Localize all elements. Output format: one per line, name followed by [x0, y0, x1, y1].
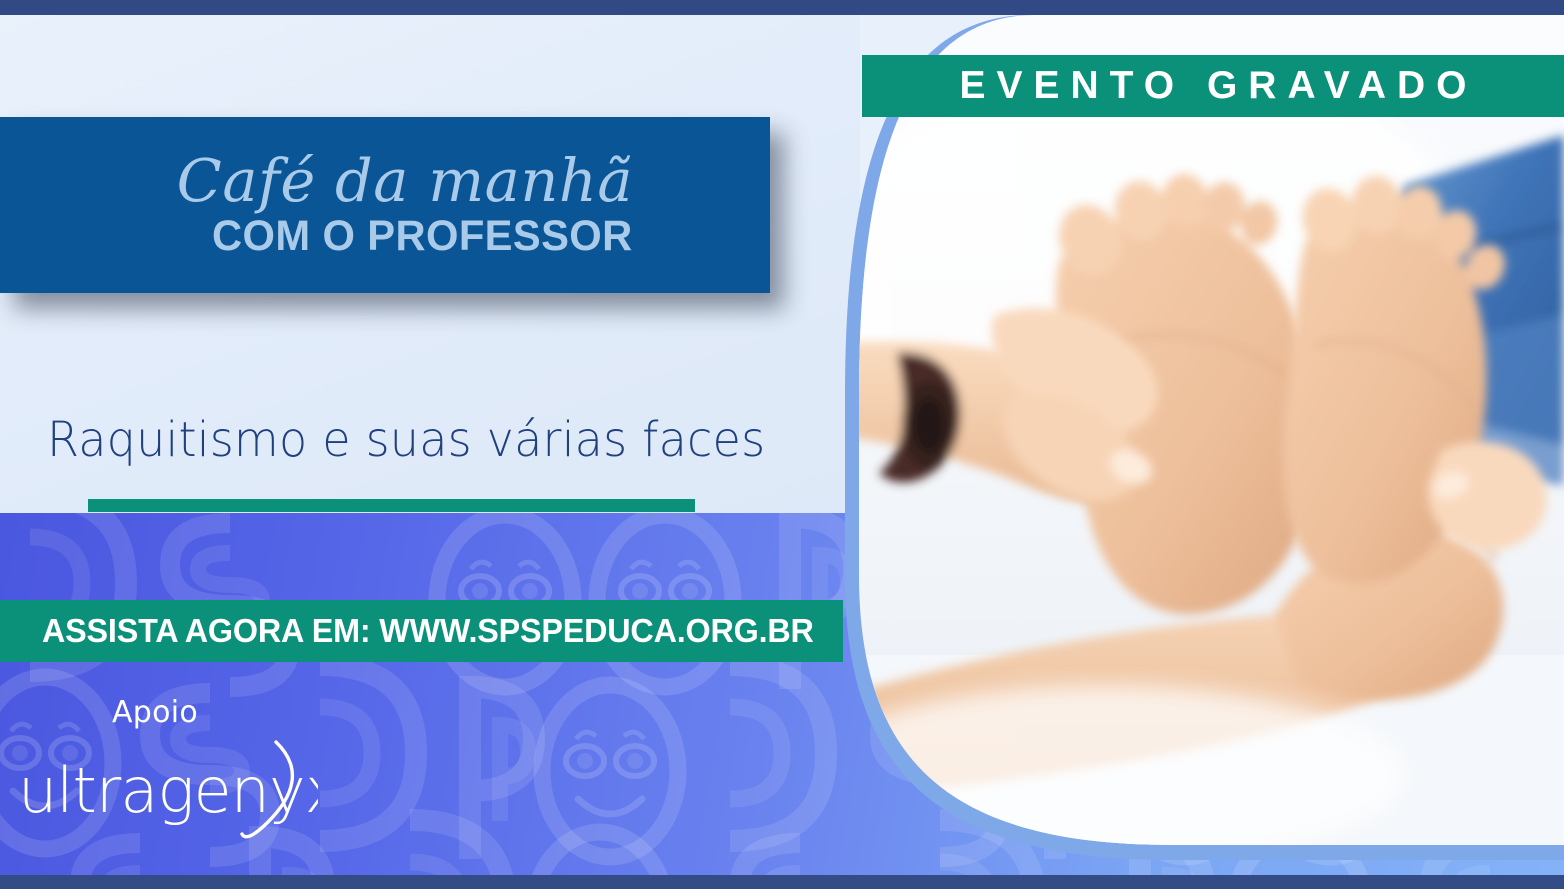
- watch-now-cta[interactable]: ASSISTA AGORA EM: WWW.SPSPEDUCA.ORG.BR: [0, 600, 843, 662]
- lecture-title-underline: [88, 499, 695, 512]
- sponsor-label: Apoio: [0, 695, 310, 730]
- lecture-title: Raquitismo e suas várias faces: [47, 412, 765, 468]
- sponsor-block: Apoio ultragenyx: [0, 695, 430, 844]
- series-bold-title: COM O PROFESSOR: [212, 214, 633, 259]
- bottom-navy-rail: [0, 875, 1564, 889]
- recorded-event-badge: EVENTO GRAVADO: [862, 55, 1564, 117]
- top-navy-rail: [0, 0, 1564, 15]
- series-title-card: Café da manhã COM O PROFESSOR: [0, 117, 770, 293]
- ultragenyx-logo-icon: ultragenyx: [18, 734, 318, 844]
- photo-arc-frame-icon: [845, 15, 1564, 860]
- event-promo-banner: EVENTO GRAVADO Café da manhã COM O PROFE…: [0, 0, 1564, 889]
- event-photo: [845, 15, 1564, 860]
- watch-now-label: ASSISTA AGORA EM: WWW.SPSPEDUCA.ORG.BR: [42, 612, 814, 650]
- series-script-title: Café da manhã: [177, 151, 633, 211]
- recorded-event-label: EVENTO GRAVADO: [948, 64, 1477, 108]
